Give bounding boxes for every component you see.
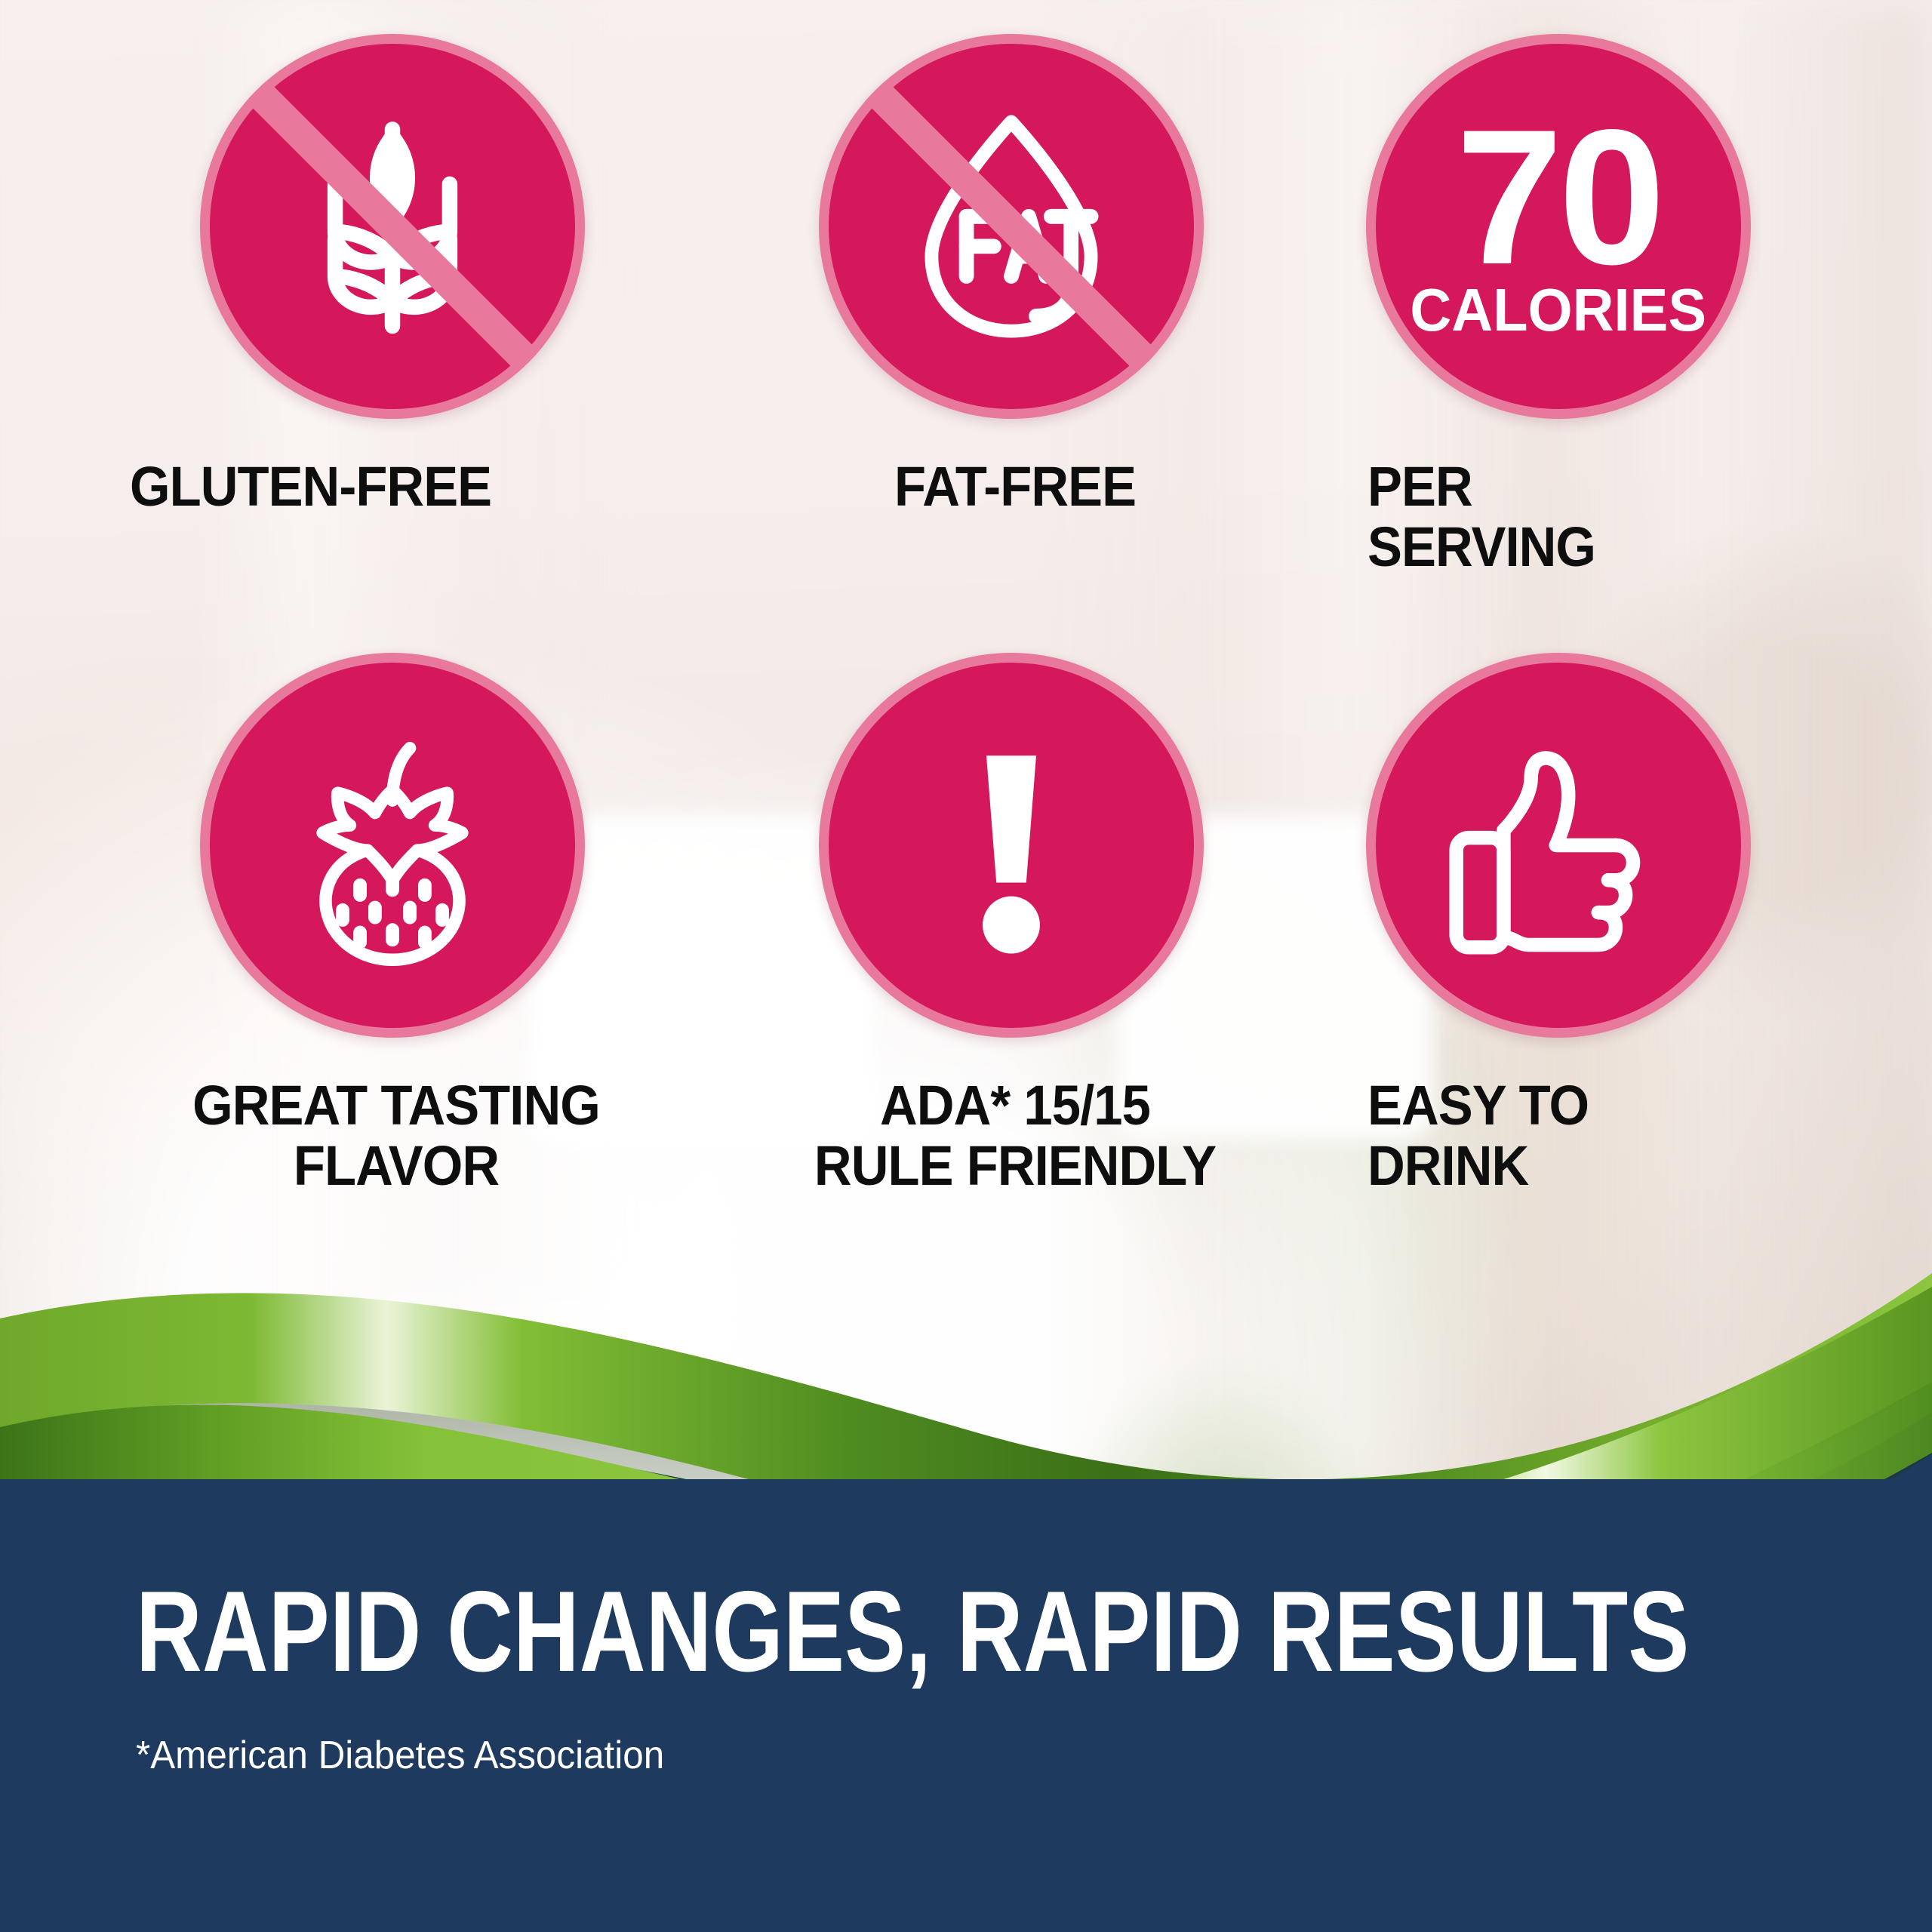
feature-gluten-free: GLUTEN-FREE bbox=[98, 34, 717, 653]
great-tasting-badge bbox=[200, 653, 585, 1038]
easy-to-drink-badge bbox=[1366, 653, 1751, 1038]
fat-free-badge bbox=[819, 34, 1204, 419]
exclamation-icon bbox=[887, 721, 1136, 970]
badge-label: FAT-FREE bbox=[749, 457, 1282, 517]
tagline: RAPID CHANGES, RAPID RESULTS bbox=[136, 1574, 1573, 1689]
footnote: *American Diabetes Association bbox=[136, 1733, 1842, 1778]
strawberry-icon bbox=[268, 721, 517, 970]
calories-badge-content: 70 CALORIES bbox=[1402, 118, 1714, 335]
calorie-count: 70 bbox=[1456, 118, 1661, 276]
feature-calories: 70 CALORIES PER SERVING bbox=[1336, 34, 1932, 653]
feature-great-tasting-flavor: GREAT TASTING FLAVOR bbox=[98, 653, 717, 1272]
gluten-free-badge bbox=[200, 34, 585, 419]
badge-label: GLUTEN-FREE bbox=[130, 457, 491, 517]
wheat-icon bbox=[268, 102, 517, 351]
badge-label: GREAT TASTING FLAVOR bbox=[130, 1075, 663, 1196]
feature-fat-free: FAT-FREE bbox=[717, 34, 1336, 653]
ada-rule-badge bbox=[819, 653, 1204, 1038]
calories-badge: 70 CALORIES bbox=[1366, 34, 1751, 419]
badge-label: EASY TO DRINK bbox=[1367, 1075, 1589, 1196]
badge-label: PER SERVING bbox=[1367, 457, 1595, 577]
thumbs-up-icon bbox=[1434, 721, 1683, 970]
fat-droplet-icon bbox=[887, 102, 1136, 351]
badge-label: ADA* 15/15 RULE FRIENDLY bbox=[749, 1075, 1282, 1196]
feature-badge-grid: GLUTEN-FREE FAT-FREE 70 bbox=[0, 0, 1932, 1283]
feature-ada-rule-friendly: ADA* 15/15 RULE FRIENDLY bbox=[717, 653, 1336, 1272]
calorie-unit: CALORIES bbox=[1411, 285, 1707, 335]
footer-content: RAPID CHANGES, RAPID RESULTS *American D… bbox=[0, 1479, 1932, 1932]
feature-easy-to-drink: EASY TO DRINK bbox=[1336, 653, 1932, 1272]
